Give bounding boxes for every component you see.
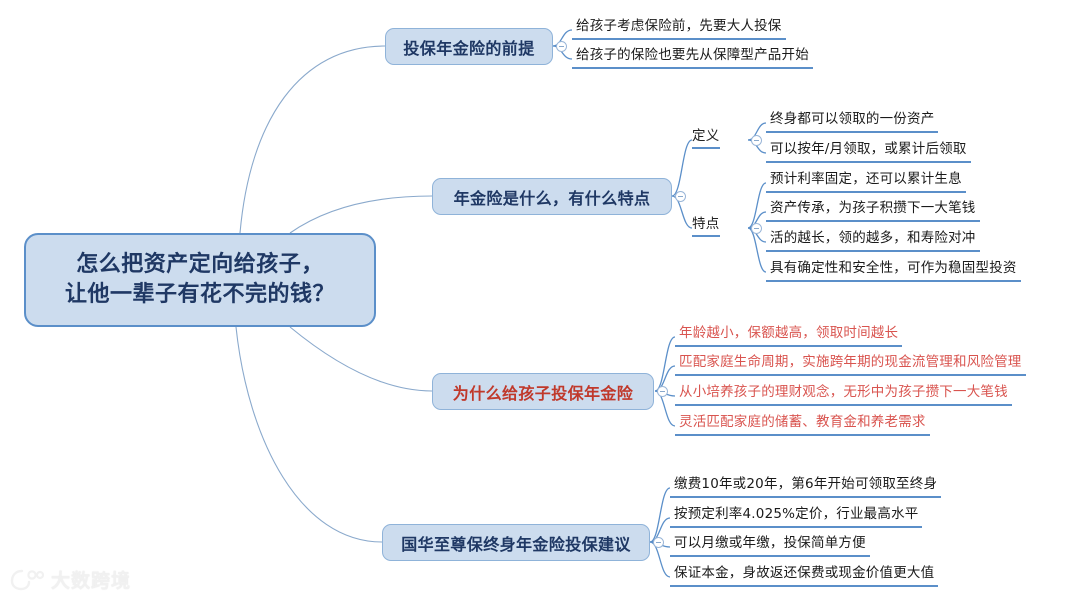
- sub-label-definition[interactable]: 定义: [692, 124, 720, 149]
- branch-node-3[interactable]: 为什么给孩子投保年金险: [432, 373, 654, 410]
- branch-node-2-label: 年金险是什么，有什么特点: [454, 185, 651, 209]
- leaf-b2-feat-1[interactable]: 资产传承，为孩子积攒下一大笔钱: [766, 196, 980, 222]
- branch-node-4-label: 国华至尊保终身年金险投保建议: [401, 531, 631, 555]
- leaf-b4-3[interactable]: 保证本金，身故返还保费或现金价值更大值: [670, 561, 938, 587]
- branch-node-1-label: 投保年金险的前提: [403, 35, 534, 59]
- brand-logo-icon: [10, 568, 44, 592]
- leaf-b3-2[interactable]: 从小培养孩子的理财观念，无形中为孩子攒下一大笔钱: [675, 380, 1012, 406]
- leaf-b1-0[interactable]: 给孩子考虑保险前，先要大人投保: [572, 14, 786, 40]
- leaf-b4-0[interactable]: 缴费10年或20年，第6年开始可领取至终身: [670, 472, 941, 498]
- leaf-b1-1[interactable]: 给孩子的保险也要先从保障型产品开始: [572, 43, 813, 69]
- leaf-b4-1[interactable]: 按预定利率4.025%定价，行业最高水平: [670, 502, 922, 528]
- leaf-b3-1[interactable]: 匹配家庭生命周期，实施跨年期的现金流管理和风险管理: [675, 350, 1026, 376]
- watermark-text: 大数跨境: [51, 566, 131, 593]
- leaf-b3-3[interactable]: 灵活匹配家庭的储蓄、教育金和养老需求: [675, 410, 930, 436]
- leaf-b2-feat-2[interactable]: 活的越长，领的越多，和寿险对冲: [766, 226, 980, 252]
- leaf-b2-feat-0[interactable]: 预计利率固定，还可以累计生息: [766, 167, 966, 193]
- leaf-b3-0[interactable]: 年龄越小，保额越高，领取时间越长: [675, 321, 902, 347]
- collapse-toggle-definition[interactable]: [751, 135, 762, 146]
- branch-node-4[interactable]: 国华至尊保终身年金险投保建议: [382, 524, 650, 561]
- collapse-toggle-branch-1[interactable]: [556, 41, 567, 52]
- leaf-b2-def-0[interactable]: 终身都可以领取的一份资产: [766, 107, 938, 133]
- collapse-toggle-branch-4[interactable]: [653, 537, 664, 548]
- collapse-toggle-features[interactable]: [751, 223, 762, 234]
- leaf-b2-feat-3[interactable]: 具有确定性和安全性，可作为稳固型投资: [766, 256, 1021, 282]
- mindmap-canvas: 怎么把资产定向给孩子， 让他一辈子有花不完的钱？ 投保年金险的前提 给孩子考虑保…: [0, 0, 1080, 613]
- root-title-line2: 让他一辈子有花不完的钱？: [65, 280, 335, 310]
- collapse-toggle-branch-3[interactable]: [657, 386, 668, 397]
- root-title-line1: 怎么把资产定向给孩子，: [65, 250, 335, 280]
- collapse-toggle-branch-2[interactable]: [675, 191, 686, 202]
- branch-node-2[interactable]: 年金险是什么，有什么特点: [432, 178, 672, 215]
- root-node[interactable]: 怎么把资产定向给孩子， 让他一辈子有花不完的钱？: [24, 233, 376, 327]
- leaf-b4-2[interactable]: 可以月缴或年缴，投保简单方便: [670, 531, 870, 557]
- sub-label-features[interactable]: 特点: [692, 212, 720, 237]
- leaf-b2-def-1[interactable]: 可以按年/月领取，或累计后领取: [766, 137, 971, 163]
- branch-node-1[interactable]: 投保年金险的前提: [385, 28, 553, 65]
- branch-node-3-label: 为什么给孩子投保年金险: [453, 380, 633, 404]
- watermark: 大数跨境: [10, 566, 131, 593]
